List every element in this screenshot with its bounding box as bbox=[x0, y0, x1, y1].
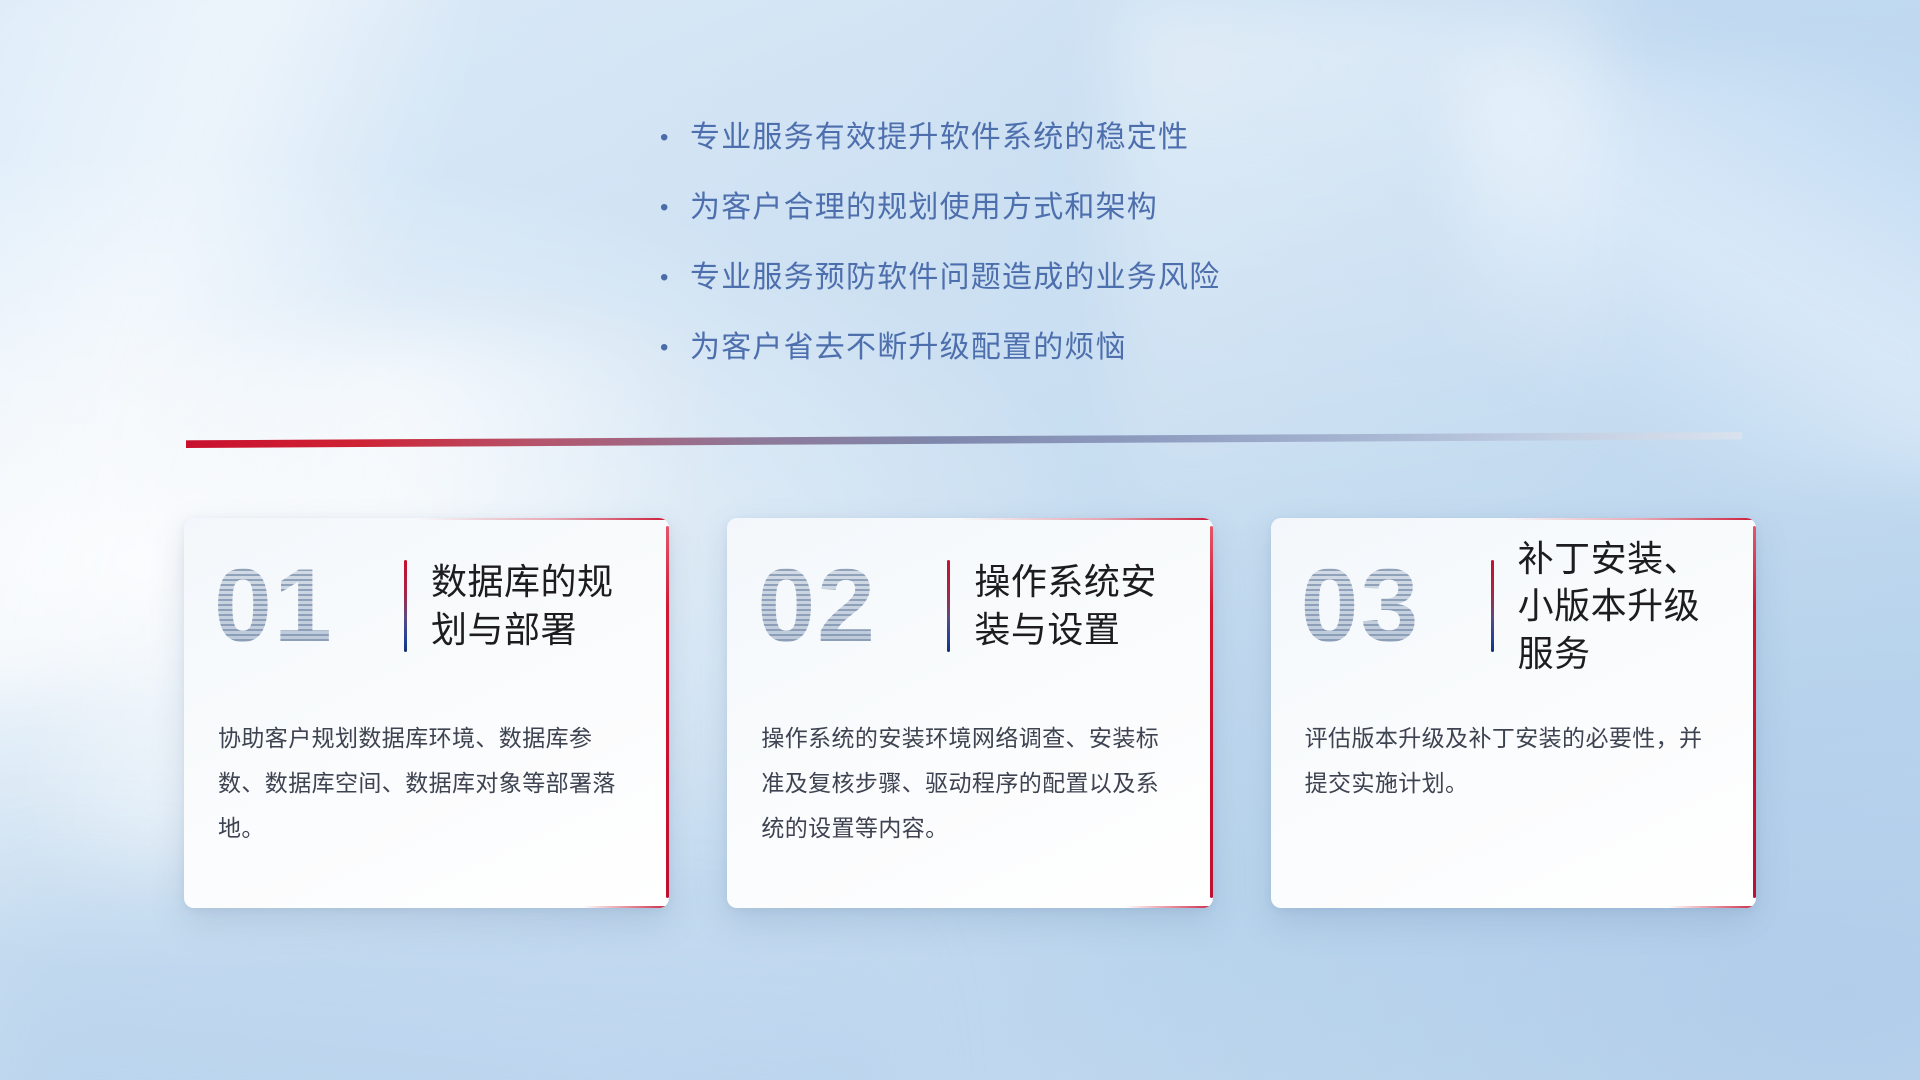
list-item: 专业服务预防软件问题造成的业务风险 bbox=[660, 252, 1420, 296]
list-item: 为客户省去不断升级配置的烦恼 bbox=[660, 322, 1420, 366]
card-number: 01 bbox=[214, 554, 404, 658]
list-item: 为客户合理的规划使用方式和架构 bbox=[660, 182, 1420, 226]
service-card-02[interactable]: 02 操作系统安装与设置 操作系统的安装环境网络调查、安装标准及复核步骤、驱动程… bbox=[727, 518, 1212, 908]
service-card-03[interactable]: 03 补丁安装、小版本升级服务 评估版本升级及补丁安装的必要性，并提交实施计划。 bbox=[1271, 518, 1756, 908]
card-title: 数据库的规划与部署 bbox=[431, 558, 643, 653]
bullet-text: 专业服务有效提升软件系统的稳定性 bbox=[690, 112, 1189, 156]
bullet-text: 为客户合理的规划使用方式和架构 bbox=[690, 182, 1158, 226]
background-light-streak-top-right bbox=[1460, 60, 1920, 480]
card-title-divider bbox=[404, 560, 407, 652]
service-card-01[interactable]: 01 数据库的规划与部署 协助客户规划数据库环境、数据库参数、数据库空间、数据库… bbox=[184, 518, 669, 908]
card-accent-bottom bbox=[1125, 906, 1212, 908]
bullet-dot-icon bbox=[660, 266, 690, 290]
benefits-bullet-list: 专业服务有效提升软件系统的稳定性 为客户合理的规划使用方式和架构 专业服务预防软… bbox=[660, 112, 1420, 392]
bullet-dot-icon bbox=[660, 336, 690, 360]
bullet-text: 为客户省去不断升级配置的烦恼 bbox=[690, 322, 1127, 366]
section-divider bbox=[186, 432, 1742, 448]
list-item: 专业服务有效提升软件系统的稳定性 bbox=[660, 112, 1420, 156]
card-title: 操作系统安装与设置 bbox=[974, 558, 1186, 653]
card-header: 03 补丁安装、小版本升级服务 bbox=[1271, 518, 1756, 694]
bullet-dot-icon bbox=[660, 126, 690, 150]
bullet-dot-icon bbox=[660, 196, 690, 220]
card-number: 02 bbox=[757, 554, 947, 658]
card-header: 02 操作系统安装与设置 bbox=[727, 518, 1212, 694]
card-title-divider bbox=[1491, 560, 1494, 652]
service-cards: 01 数据库的规划与部署 协助客户规划数据库环境、数据库参数、数据库空间、数据库… bbox=[184, 518, 1756, 922]
card-body-text: 评估版本升级及补丁安装的必要性，并提交实施计划。 bbox=[1271, 694, 1756, 806]
card-title-divider bbox=[947, 560, 950, 652]
card-body-text: 操作系统的安装环境网络调查、安装标准及复核步骤、驱动程序的配置以及系统的设置等内… bbox=[727, 694, 1212, 851]
card-header: 01 数据库的规划与部署 bbox=[184, 518, 669, 694]
bullet-text: 专业服务预防软件问题造成的业务风险 bbox=[690, 252, 1220, 296]
card-accent-bottom bbox=[1669, 906, 1756, 908]
slide-canvas: 专业服务有效提升软件系统的稳定性 为客户合理的规划使用方式和架构 专业服务预防软… bbox=[0, 0, 1920, 1080]
card-number: 03 bbox=[1301, 554, 1491, 658]
divider-wedge bbox=[186, 432, 1742, 448]
card-accent-bottom bbox=[582, 906, 669, 908]
card-body-text: 协助客户规划数据库环境、数据库参数、数据库空间、数据库对象等部署落地。 bbox=[184, 694, 669, 851]
card-title: 补丁安装、小版本升级服务 bbox=[1518, 535, 1730, 678]
